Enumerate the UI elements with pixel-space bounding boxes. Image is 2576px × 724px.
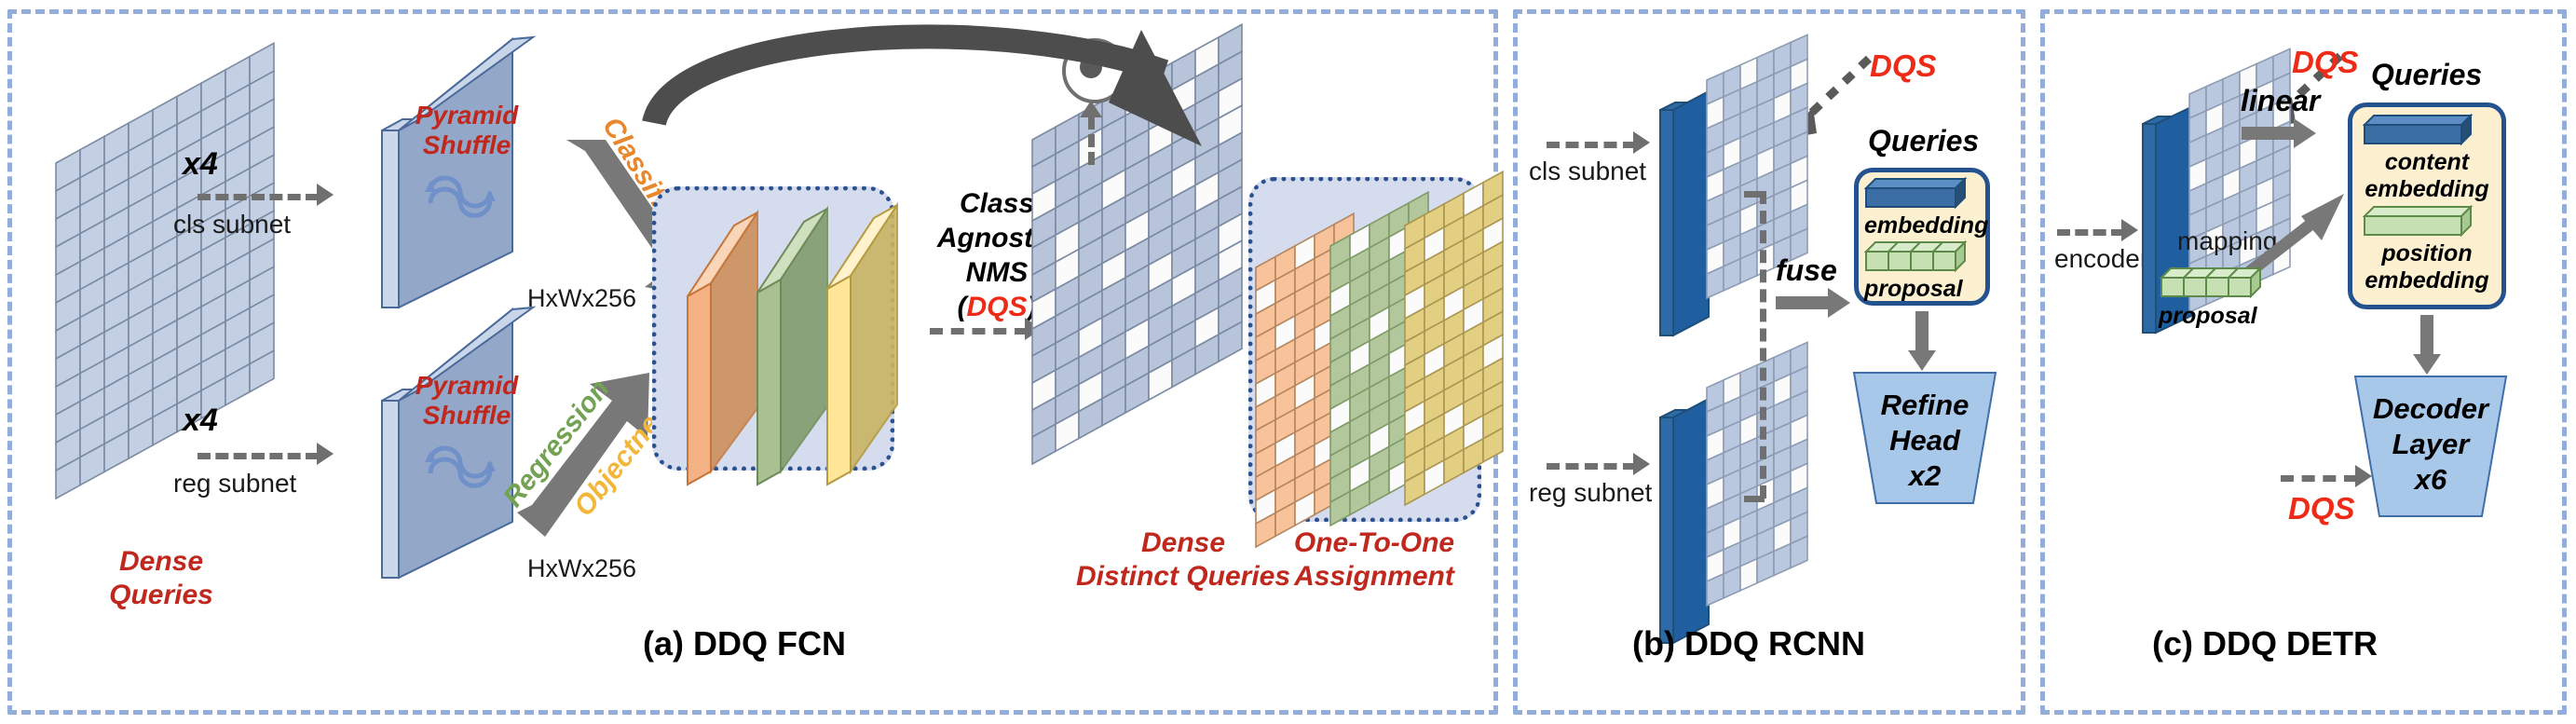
fuse-bracket-bottom [1744, 496, 1765, 502]
one-to-one-label: One-To-One Assignment [1258, 526, 1491, 594]
proposal-label-b: proposal [1864, 276, 1963, 303]
fuse-bracket-line [1760, 191, 1766, 499]
linear-label: linear [2241, 84, 2320, 118]
dqs-label-c-top: DQS [2292, 45, 2359, 80]
panel-a-caption: (a) DDQ FCN [643, 624, 846, 663]
nms-to-distinct-arrow [930, 328, 1028, 335]
fuse-arrowhead [1828, 288, 1850, 318]
queries-to-decoder-arrow [2420, 315, 2433, 356]
embedding-label-b: embedding [1864, 212, 1988, 239]
queries-to-decoder-arrowhead [2413, 354, 2441, 375]
linear-arrowhead [2294, 118, 2316, 148]
proposal-label-c: proposal [2159, 303, 2257, 330]
dqs-arrow-c-bottom [2281, 475, 2357, 482]
proposal-bar-b [1866, 242, 1978, 274]
cls-subnet-label: cls subnet [173, 210, 291, 239]
position-embedding-label-c: position embedding [2348, 240, 2506, 294]
dims-bottom-label: HxWx256 [527, 554, 636, 583]
content-embedding-bar-c [2365, 116, 2486, 147]
pyramid-shuffle-bottom-label: Pyramid Shuffle [411, 371, 523, 430]
prediction-planes [660, 175, 902, 492]
queries-to-refine-arrowhead [1908, 350, 1936, 371]
queries-title-b: Queries [1868, 124, 1979, 158]
refine-head-label: Refine Head x2 [1854, 388, 1996, 494]
encoder-arrowhead [2121, 219, 2138, 241]
cls-subnet-arrowhead-b [1633, 131, 1650, 154]
linear-arrow [2242, 127, 2296, 140]
decoder-layer-label: Decoder Layer x6 [2355, 391, 2506, 498]
shuffle-swirl-icon-bottom [421, 436, 505, 492]
one-to-one-curved-arrow [643, 20, 1276, 188]
encoder-label: encoder [2054, 244, 2148, 274]
cls-subnet-arrowhead [317, 184, 334, 206]
cls-feature-plane-b [1660, 65, 1847, 363]
cls-subnet-arrow [198, 194, 319, 200]
fuse-arrow [1776, 296, 1830, 309]
fuse-bracket-top [1744, 191, 1765, 198]
x4-top-label: x4 [183, 146, 218, 183]
queries-title-c: Queries [2371, 58, 2482, 92]
reg-subnet-arrowhead-b [1633, 453, 1650, 475]
proposal-bar-c [2161, 268, 2273, 300]
content-embedding-label-c: content embedding [2348, 149, 2506, 203]
embedding-bar-b [1866, 179, 1978, 211]
queries-to-refine-arrow [1915, 311, 1929, 352]
reg-subnet-arrow [198, 453, 319, 459]
one-to-one-grids [1256, 179, 1489, 528]
dense-distinct-queries-grid [1032, 140, 1256, 531]
dqs-label-b: DQS [1870, 48, 1937, 84]
reg-subnet-label-b: reg subnet [1529, 478, 1652, 508]
pyramid-shuffle-top-label: Pyramid Shuffle [411, 101, 523, 160]
shuffle-swirl-icon-top [421, 166, 505, 222]
dense-queries-label: Dense Queries [91, 545, 231, 612]
reg-subnet-arrowhead [317, 443, 334, 465]
panel-c-caption: (c) DDQ DETR [2152, 624, 2378, 663]
dqs-inline-label: DQS [966, 292, 1027, 322]
x4-bottom-label: x4 [183, 403, 218, 439]
figure-root: Dense Queries x4 cls subnet x4 reg subne… [0, 0, 2576, 724]
cls-subnet-label-b: cls subnet [1529, 157, 1646, 186]
reg-subnet-label: reg subnet [173, 469, 296, 499]
panel-b-caption: (b) DDQ RCNN [1632, 624, 1865, 663]
position-embedding-bar-c [2365, 207, 2486, 239]
fuse-label: fuse [1776, 253, 1837, 288]
dqs-label-c-bottom: DQS [2288, 491, 2355, 526]
encoder-arrow [2057, 229, 2124, 236]
cls-subnet-arrow-b [1547, 142, 1636, 148]
reg-subnet-arrow-b [1547, 463, 1636, 470]
